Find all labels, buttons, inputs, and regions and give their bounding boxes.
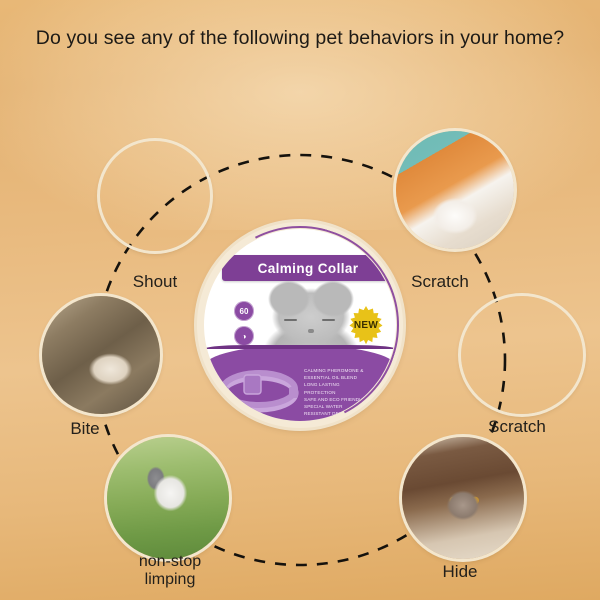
behavior-photo-bite[interactable]	[42, 296, 160, 414]
behavior-label-scratch-2: Scratch	[462, 417, 572, 437]
cat-photo-bite-icon	[42, 296, 160, 414]
behavior-label-shout: Shout	[105, 272, 205, 292]
poster-canvas: Do you see any of the following pet beha…	[0, 0, 600, 600]
cat-photo-shout-icon	[100, 141, 210, 251]
behavior-photo-hide[interactable]	[402, 437, 524, 559]
behavior-label-limping: non-stop limping	[110, 553, 230, 590]
behavior-label-bite: Bite	[40, 419, 130, 439]
product-image-calming-collar[interactable]: Calming Collar 60 ◑ ☝ NEW	[197, 222, 403, 428]
behavior-photo-scratch-2[interactable]	[461, 296, 583, 414]
behavior-photo-scratch-1[interactable]	[396, 131, 514, 249]
cat-photo-hide-icon	[402, 437, 524, 559]
cat-photo-scratch-2-icon	[461, 296, 583, 414]
behavior-photo-limping[interactable]	[107, 437, 229, 559]
behavior-photo-shout[interactable]	[100, 141, 210, 251]
cat-photo-limping-icon	[107, 437, 229, 559]
behavior-label-scratch-1: Scratch	[385, 272, 495, 292]
page-title: Do you see any of the following pet beha…	[0, 27, 600, 50]
cat-photo-scratch-1-icon	[396, 131, 514, 249]
behavior-label-hide: Hide	[405, 562, 515, 582]
